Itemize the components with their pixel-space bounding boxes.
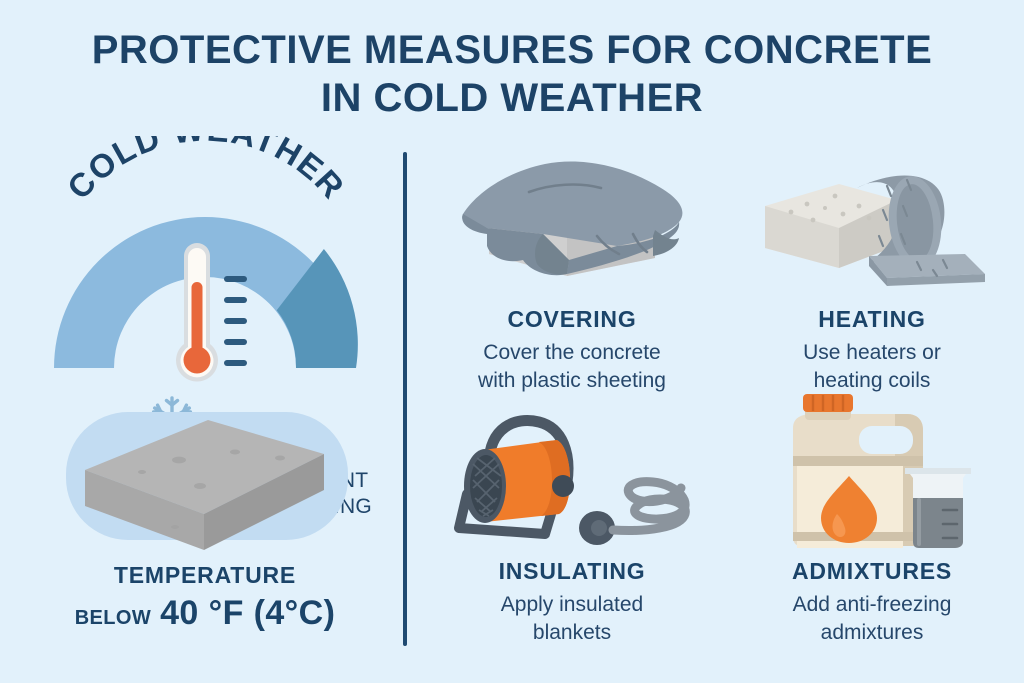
card-heating-title: HEATING	[722, 306, 1022, 333]
card-covering-desc: Cover the concrete with plastic sheeting	[422, 339, 722, 395]
covering-art	[422, 150, 722, 300]
card-insulating-desc: Apply insulated blankets	[422, 591, 722, 647]
jug-label-top-band	[793, 456, 923, 466]
blanket-flap-top	[869, 254, 985, 278]
card-admixtures: ADMIXTURES Add anti-freezing admixtures	[722, 392, 1022, 647]
temperature-heading: TEMPERATURE	[30, 562, 380, 589]
gauge-curved-label-text: COLD WEATHER	[60, 136, 352, 206]
page-title: PROTECTIVE MEASURES FOR CONCRETE IN COLD…	[0, 26, 1024, 122]
jug-handle-hole	[859, 426, 913, 454]
insulating-art	[422, 402, 722, 552]
card-covering: COVERING Cover the concrete with plastic…	[422, 150, 722, 395]
temperature-block: TEMPERATURE BELOW40 °F (4°C)	[30, 402, 380, 652]
concrete-slab-icon	[52, 402, 362, 562]
space-heater-icon	[445, 402, 700, 552]
thermometer-fill	[192, 282, 203, 364]
thermometer-ticks	[224, 276, 247, 366]
infographic-canvas: PROTECTIVE MEASURES FOR CONCRETE IN COLD…	[0, 0, 1024, 683]
measures-grid: COVERING Cover the concrete with plastic…	[420, 150, 1024, 660]
heater-knob	[552, 475, 574, 497]
temperature-value: 40 °F (4°C)	[160, 594, 335, 632]
temperature-value-row: BELOW40 °F (4°C)	[30, 594, 380, 633]
card-covering-desc-line-2: with plastic sheeting	[422, 367, 722, 395]
admixtures-art	[722, 392, 1022, 552]
chemical-jug-beaker-icon	[767, 392, 977, 552]
card-admixtures-desc: Add anti-freezing admixtures	[722, 591, 1022, 647]
page-title-line-1: PROTECTIVE MEASURES FOR CONCRETE	[0, 26, 1024, 74]
beaker-rim	[905, 468, 971, 474]
card-admixtures-title: ADMIXTURES	[722, 558, 1022, 585]
page-title-line-2: IN COLD WEATHER	[0, 74, 1024, 122]
card-insulating-desc-line-2: blankets	[422, 619, 722, 647]
card-heating-desc-line-1: Use heaters or	[722, 339, 1022, 367]
card-heating-desc: Use heaters or heating coils	[722, 339, 1022, 395]
section-divider	[403, 152, 407, 646]
tarp-over-slab-icon	[447, 150, 697, 300]
cold-weather-gauge: COLD WEATHER	[30, 136, 380, 391]
card-insulating-title: INSULATING	[422, 558, 722, 585]
heater-plug-face	[591, 520, 607, 536]
temperature-prefix: BELOW	[75, 607, 151, 629]
jug-cap	[803, 394, 853, 412]
card-covering-title: COVERING	[422, 306, 722, 333]
card-admixtures-desc-line-2: admixtures	[722, 619, 1022, 647]
card-admixtures-desc-line-1: Add anti-freezing	[722, 591, 1022, 619]
card-covering-desc-line-1: Cover the concrete	[422, 339, 722, 367]
card-insulating: INSULATING Apply insulated blankets	[422, 402, 722, 647]
card-heating-desc-line-2: heating coils	[722, 367, 1022, 395]
heating-art	[722, 150, 1022, 300]
card-insulating-desc-line-1: Apply insulated	[422, 591, 722, 619]
card-heating: HEATING Use heaters or heating coils	[722, 150, 1022, 395]
heating-blanket-roll-icon	[747, 150, 997, 300]
heater-cord	[613, 482, 685, 531]
thermometer-icon	[167, 234, 277, 394]
svg-text:COLD WEATHER: COLD WEATHER	[60, 136, 352, 206]
